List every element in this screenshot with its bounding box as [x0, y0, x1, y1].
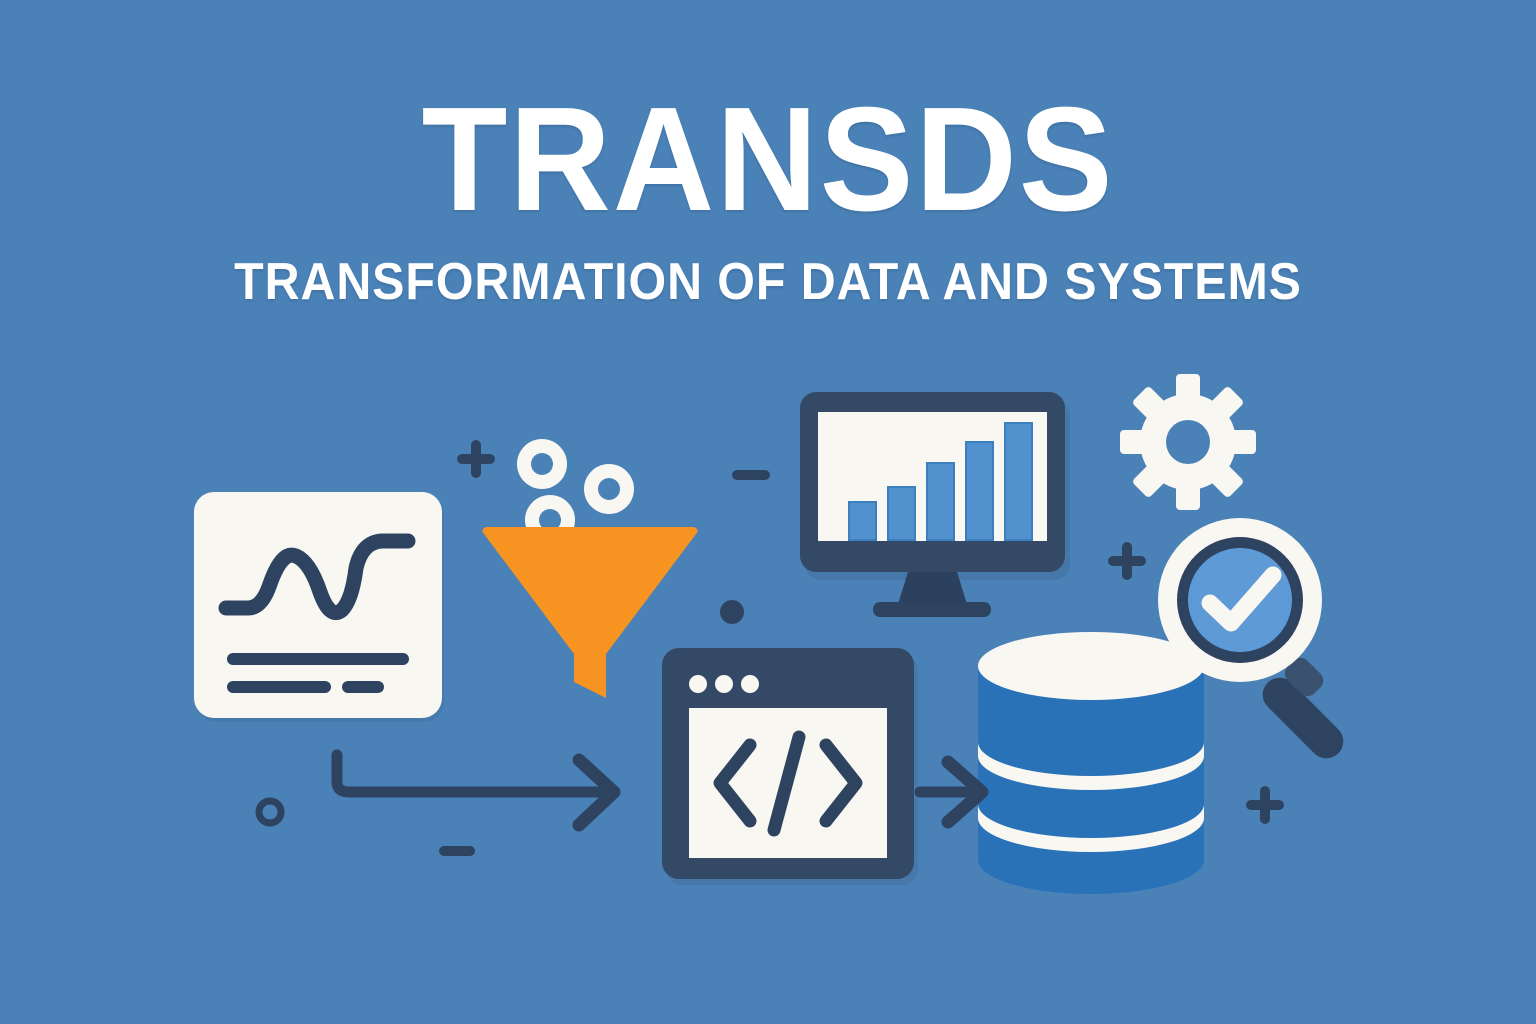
gear — [1118, 372, 1258, 512]
poster-canvas: TRANSDS TRANSFORMATION OF DATA AND SYSTE… — [0, 0, 1536, 1024]
monitor-graphic — [800, 392, 1080, 622]
plus-icon — [1106, 540, 1148, 582]
minus-top-decoration — [730, 467, 772, 483]
report-card — [194, 492, 448, 724]
minus-icon — [437, 843, 477, 859]
report-card-graphic — [194, 492, 448, 724]
plus-icon — [1244, 784, 1286, 826]
gear-icon — [1118, 372, 1258, 512]
arrow-code-to-database — [918, 748, 998, 848]
dot-mid-decoration — [719, 599, 745, 625]
plus-corner-decoration — [1244, 784, 1286, 826]
magnifier — [1158, 518, 1383, 763]
code-window — [662, 648, 922, 888]
plus-right-decoration — [1106, 540, 1148, 582]
minus-icon — [730, 467, 772, 483]
elbow-arrow-icon — [326, 744, 626, 844]
arrow-report-to-code — [326, 744, 626, 844]
dot-icon — [719, 599, 745, 625]
window-dots — [689, 675, 759, 693]
magnifier-check-icon — [1158, 518, 1383, 763]
page-title: TRANSDS — [38, 0, 1497, 234]
plus-icon — [455, 438, 497, 480]
page-subtitle: TRANSFORMATION OF DATA AND SYSTEMS — [54, 234, 1482, 308]
monitor — [800, 392, 1080, 622]
poster-header: TRANSDS TRANSFORMATION OF DATA AND SYSTE… — [0, 0, 1536, 308]
circle-outline-icon — [255, 797, 285, 827]
minus-lower-decoration — [437, 843, 477, 859]
arrow-right-icon — [918, 748, 998, 848]
ring-small-decoration — [255, 797, 285, 827]
plus-left-decoration — [455, 438, 497, 480]
code-window-graphic — [662, 648, 922, 888]
